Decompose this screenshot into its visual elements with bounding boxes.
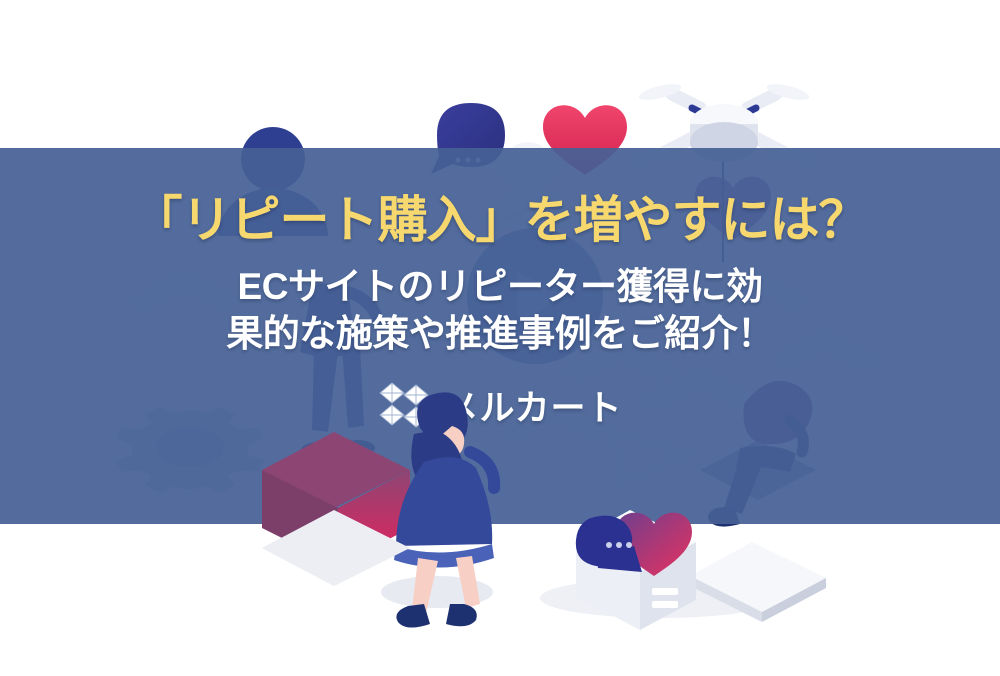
foreground-white-area-illustration	[0, 0, 1000, 676]
hero-banner-image: 「リピート購入」を増やすには？ ECサイトのリピーター獲得に効 果的な施策や推進…	[0, 0, 1000, 676]
box-shadow-plate	[262, 510, 410, 586]
woman-walking	[381, 392, 494, 627]
